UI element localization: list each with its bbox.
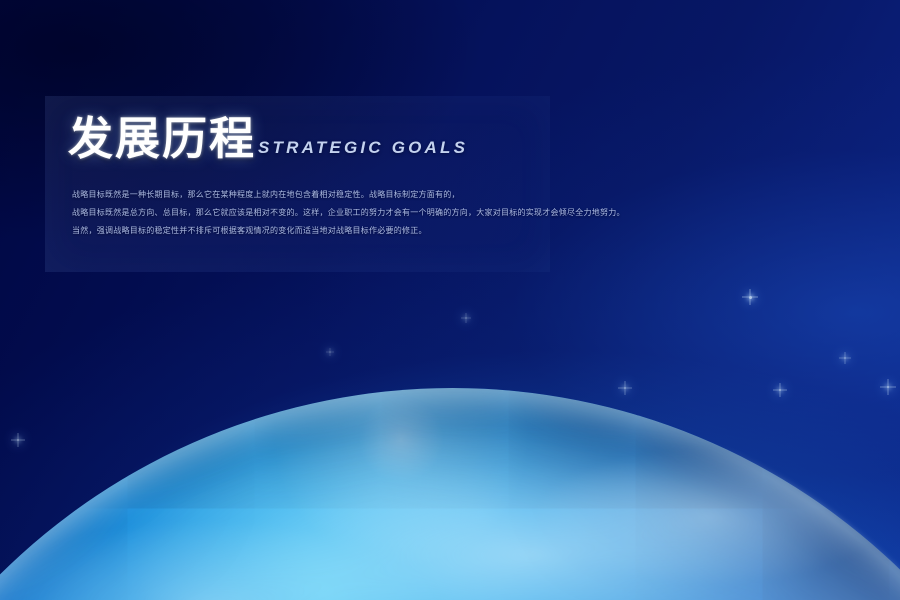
earth-globe: [0, 388, 900, 600]
body-paragraph-2: 战略目标既然是总方向、总目标，那么它就应该是相对不变的。这样，企业职工的努力才会…: [72, 206, 542, 220]
body-paragraph-3: 当然，强调战略目标的稳定性并不排斥可根据客观情况的变化而适当地对战略目标作必要的…: [72, 224, 542, 238]
banner-heading: 发展历程 STRATEGIC GOALS: [68, 116, 468, 161]
star-9-icon: [329, 351, 331, 353]
body-paragraph-1: 战略目标既然是一种长期目标，那么它在某种程度上就内在地包含着相对稳定性。战略目标…: [72, 188, 542, 202]
banner-body-text: 战略目标既然是一种长期目标，那么它在某种程度上就内在地包含着相对稳定性。战略目标…: [72, 188, 542, 242]
banner-stage: 发展历程 STRATEGIC GOALS 战略目标既然是一种长期目标，那么它在某…: [0, 0, 900, 600]
page-title: 发展历程: [68, 116, 256, 161]
star-8-icon: [465, 317, 467, 319]
page-subtitle: STRATEGIC GOALS: [258, 138, 468, 161]
star-1-icon: [749, 296, 752, 299]
earth-atmosphere-limb: [0, 383, 900, 600]
